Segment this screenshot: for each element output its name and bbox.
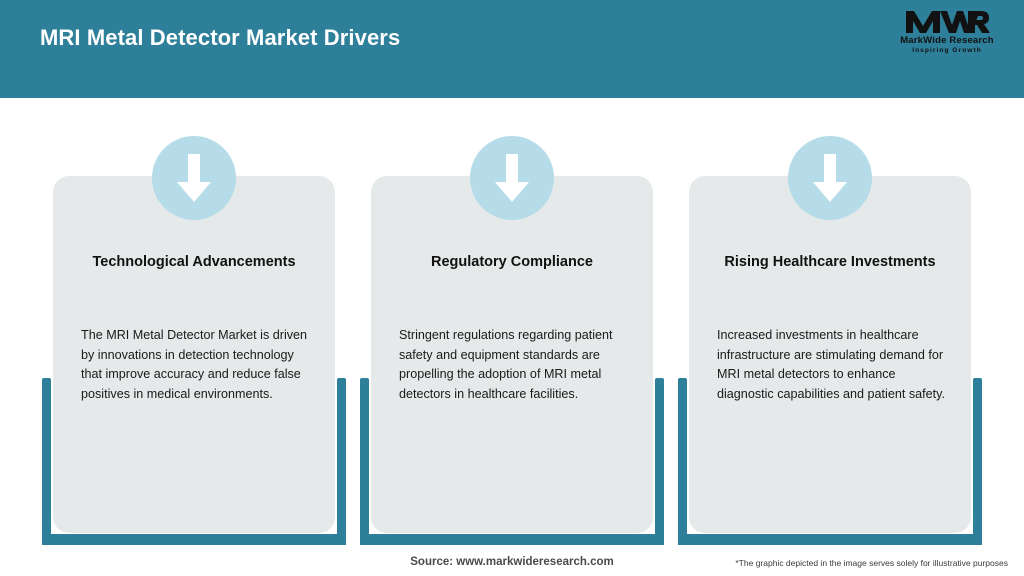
driver-card-1[interactable]: Technological Advancements The MRI Metal… xyxy=(53,176,335,533)
brand-name: MarkWide Research xyxy=(888,35,1006,46)
driver-card-2[interactable]: Regulatory Compliance Stringent regulati… xyxy=(371,176,653,533)
driver-card-title-3: Rising Healthcare Investments xyxy=(707,251,953,273)
arrow-down-icon-3 xyxy=(788,136,872,220)
page-title: MRI Metal Detector Market Drivers xyxy=(40,25,400,51)
frame-bar-left-2 xyxy=(360,378,369,545)
frame-bar-bottom-2 xyxy=(360,534,664,545)
brand-tagline: Inspiring Growth xyxy=(888,46,1006,55)
driver-card-body-2: Stringent regulations regarding patient … xyxy=(399,326,629,404)
frame-bar-right-1 xyxy=(337,378,346,545)
frame-bar-right-2 xyxy=(655,378,664,545)
frame-bar-bottom-3 xyxy=(678,534,982,545)
driver-card-body-3: Increased investments in healthcare infr… xyxy=(717,326,947,404)
arrow-down-icon-1 xyxy=(152,136,236,220)
arrow-down-icon-2 xyxy=(470,136,554,220)
mwr-logo-icon xyxy=(888,8,1006,34)
disclaimer-note: *The graphic depicted in the image serve… xyxy=(735,558,1008,568)
brand-logo: MarkWide Research Inspiring Growth xyxy=(888,8,1006,60)
driver-card-body-1: The MRI Metal Detector Market is driven … xyxy=(81,326,311,404)
driver-card-title-1: Technological Advancements xyxy=(71,251,317,273)
driver-card-title-2: Regulatory Compliance xyxy=(389,251,635,273)
drivers-stage: Technological Advancements The MRI Metal… xyxy=(0,98,1024,576)
driver-card-3[interactable]: Rising Healthcare Investments Increased … xyxy=(689,176,971,533)
frame-bar-left-3 xyxy=(678,378,687,545)
frame-bar-left-1 xyxy=(42,378,51,545)
frame-bar-bottom-1 xyxy=(42,534,346,545)
page-header: MRI Metal Detector Market Drivers MarkWi… xyxy=(0,0,1024,98)
frame-bar-right-3 xyxy=(973,378,982,545)
